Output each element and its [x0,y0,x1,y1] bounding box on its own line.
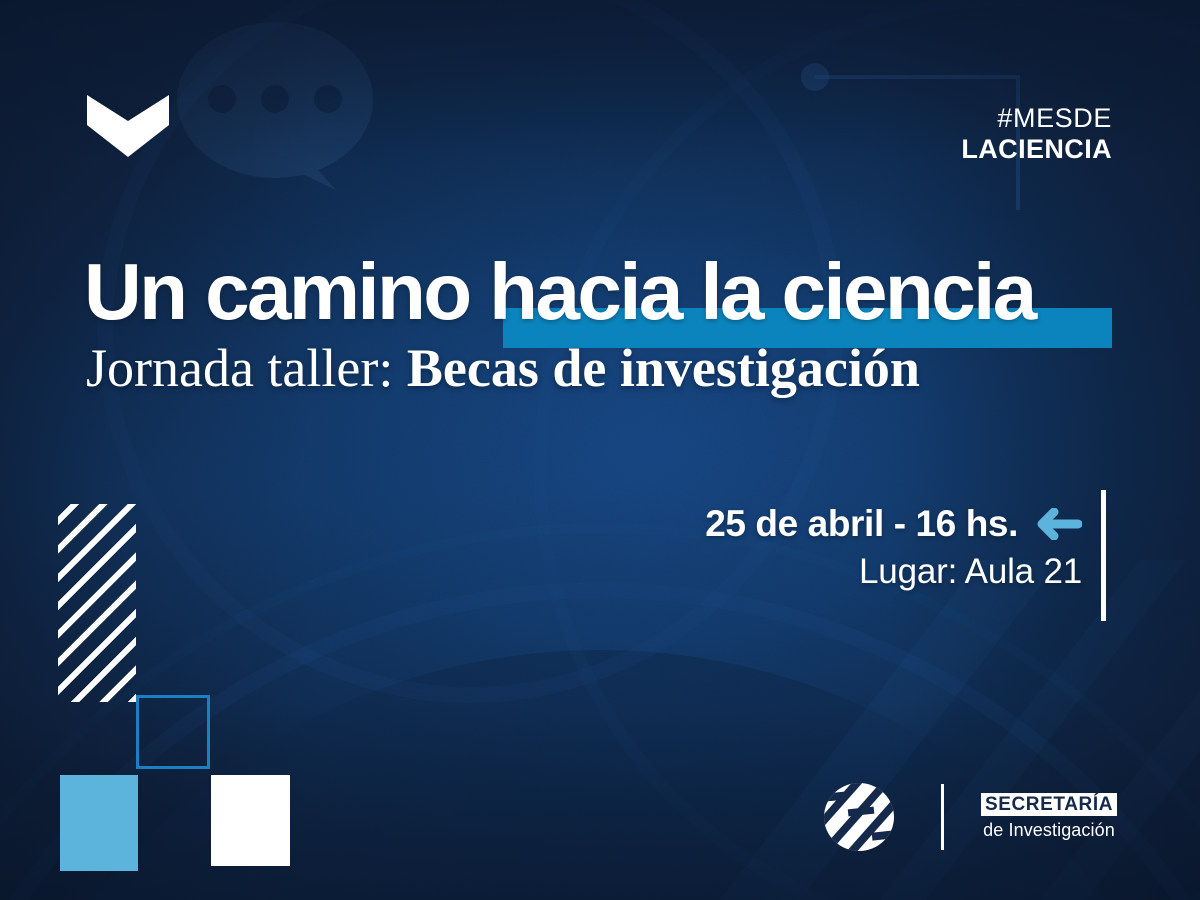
subtitle-light-part: Jornada taller: [86,338,407,398]
brand-name-secondary: de Investigación [976,821,1122,841]
arrow-left-icon [1036,508,1082,540]
institution-logo-mark [818,783,900,851]
event-datetime: 25 de abril - 16 hs. [705,505,1018,544]
diagonal-stripes-decoration [58,504,136,702]
logo-divider [941,784,944,850]
date-row: 25 de abril - 16 hs. [705,505,1082,544]
white-square-decoration [211,775,290,866]
brand-text-block: SECRETARÍA de Investigación [976,793,1122,841]
vertical-rule-decoration [1101,490,1106,621]
event-details-block: 25 de abril - 16 hs. Lugar: Aula 21 [705,505,1082,591]
hashtag-line-1: #MESDE [961,103,1112,134]
brand-name-primary: SECRETARÍA [981,793,1117,816]
page-subtitle: Jornada taller: Becas de investigación [0,340,1200,397]
light-blue-square-decoration [60,775,138,871]
hashtag-line-2: LACIENCIA [961,134,1112,165]
event-poster: #MESDE LACIENCIA Un camino hacia la cien… [0,0,1200,900]
title-block: Un camino hacia la ciencia Jornada talle… [0,252,1200,397]
event-place: Lugar: Aula 21 [705,553,1082,592]
chevron-down-icon [87,95,169,157]
title-main-text: Un camino hacia la ciencia [84,247,1035,336]
subtitle-bold-part: Becas de investigación [407,338,920,398]
page-title: Un camino hacia la ciencia [0,252,1200,332]
hashtag-block: #MESDE LACIENCIA [961,103,1112,166]
outlined-square-decoration [136,695,210,769]
